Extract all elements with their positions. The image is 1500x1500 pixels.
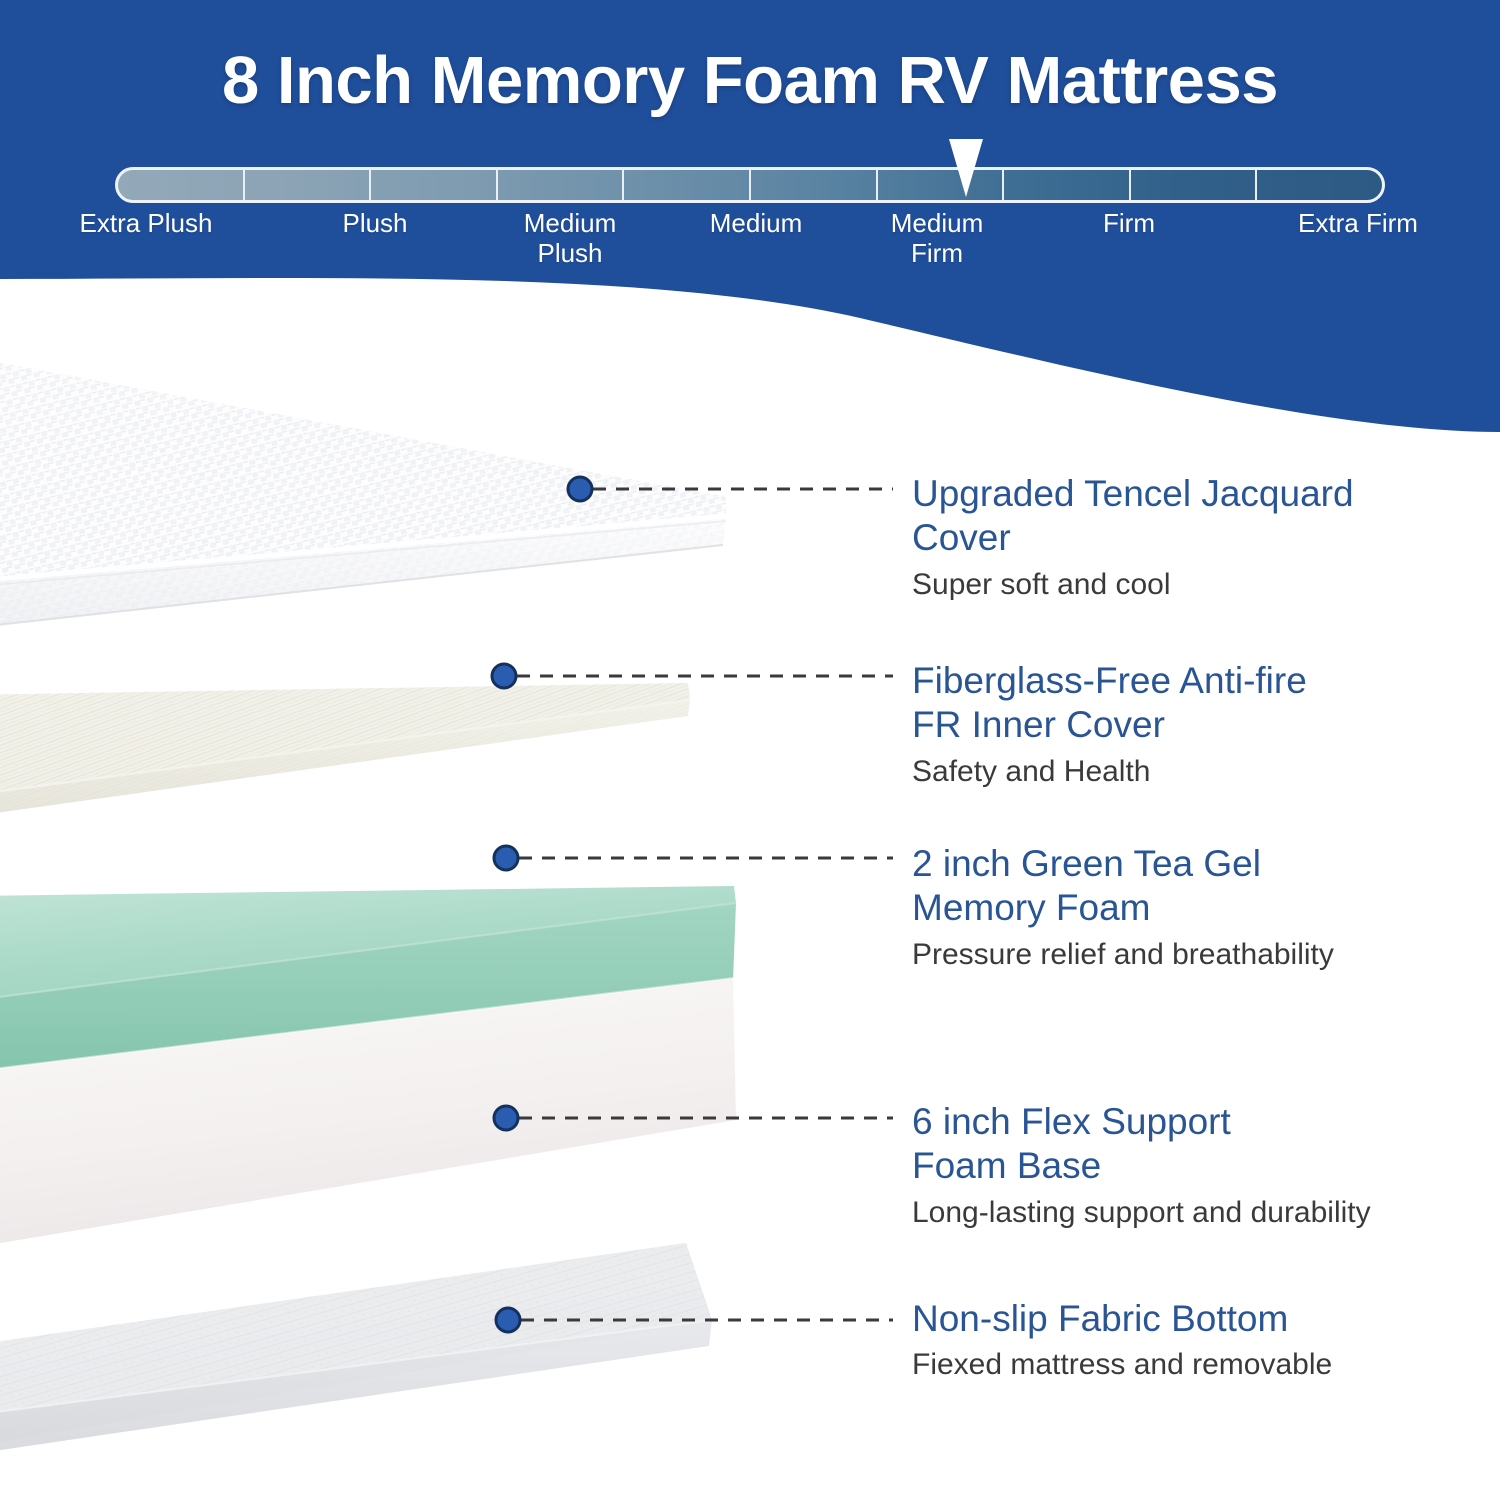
firmness-scale-bar[interactable] (115, 167, 1385, 203)
firmness-label-0: Extra Plush (80, 208, 213, 238)
callout-subtitle-fr-inner-cover: Safety and Health (912, 752, 1307, 791)
firmness-scale[interactable] (115, 167, 1385, 203)
callout-title-fr-inner-cover: Fiberglass-Free Anti-fire FR Inner Cover (912, 659, 1307, 748)
callout-non-slip-bottom: Non-slip Fabric Bottom Fiexed mattress a… (912, 1297, 1332, 1384)
firmness-scale-segment[interactable] (371, 170, 498, 200)
callout-title-green-tea-foam: 2 inch Green Tea Gel Memory Foam (912, 842, 1334, 931)
firmness-label-3: Medium (710, 208, 802, 238)
firmness-scale-segment[interactable] (624, 170, 751, 200)
callout-tencel-cover: Upgraded Tencel Jacquard Cover Super sof… (912, 472, 1354, 604)
firmness-scale-segment[interactable] (118, 170, 245, 200)
firmness-scale-segment[interactable] (1004, 170, 1131, 200)
firmness-label-2: Medium Plush (524, 208, 616, 269)
down-arrow-marker-icon (944, 137, 988, 199)
firmness-label-4: Medium Firm (891, 208, 983, 269)
firmness-label-5: Firm (1103, 208, 1155, 238)
firmness-label-6: Extra Firm (1298, 208, 1418, 238)
firmness-label-1: Plush (342, 208, 407, 238)
callout-fr-inner-cover: Fiberglass-Free Anti-fire FR Inner Cover… (912, 659, 1307, 791)
infographic-canvas: Upgraded Tencel Jacquard Cover Super sof… (0, 0, 1500, 1500)
page-title: 8 Inch Memory Foam RV Mattress (0, 46, 1500, 116)
callout-subtitle-non-slip-bottom: Fiexed mattress and removable (912, 1345, 1332, 1384)
callout-support-base: 6 inch Flex Support Foam Base Long-lasti… (912, 1100, 1371, 1232)
callout-subtitle-support-base: Long-lasting support and durability (912, 1193, 1371, 1232)
firmness-scale-labels: Extra PlushPlushMedium PlushMediumMedium… (0, 208, 1500, 290)
firmness-scale-segment[interactable] (498, 170, 625, 200)
firmness-scale-segment[interactable] (751, 170, 878, 200)
firmness-scale-segment[interactable] (245, 170, 372, 200)
callout-title-non-slip-bottom: Non-slip Fabric Bottom (912, 1297, 1332, 1341)
firmness-scale-segment[interactable] (1257, 170, 1382, 200)
callout-title-tencel-cover: Upgraded Tencel Jacquard Cover (912, 472, 1354, 561)
firmness-scale-segment[interactable] (1131, 170, 1258, 200)
callout-subtitle-green-tea-foam: Pressure relief and breathability (912, 935, 1334, 974)
callout-green-tea-foam: 2 inch Green Tea Gel Memory Foam Pressur… (912, 842, 1334, 974)
callout-title-support-base: 6 inch Flex Support Foam Base (912, 1100, 1371, 1189)
callout-subtitle-tencel-cover: Super soft and cool (912, 565, 1354, 604)
